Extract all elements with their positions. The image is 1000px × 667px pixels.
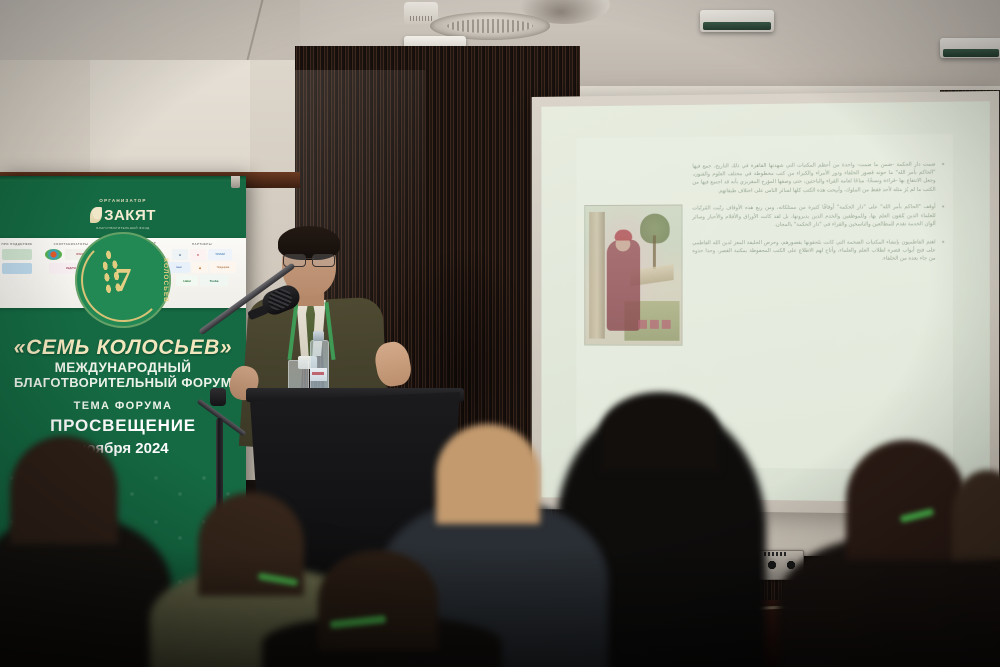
audience-member-head	[318, 550, 438, 650]
forum-emblem: 7 КОЛОСЬЕВ	[75, 232, 171, 328]
banner-organizer-subtitle: БЛАГОТВОРИТЕЛЬНЫЙ ФОНД	[0, 226, 246, 230]
figure-pillar	[589, 212, 605, 339]
sponsor-logo: Halal	[176, 275, 198, 286]
figure-scholar-robe	[607, 239, 640, 330]
figure-tree-trunk	[653, 235, 656, 269]
emblem-word: КОЛОСЬЕВ	[145, 248, 169, 312]
slide-paragraph: اهتم الفاطميون بإنشاء المكتبات الضخمة ال…	[692, 238, 945, 264]
banner-title: «СЕМЬ КОЛОСЬЕВ»	[0, 336, 246, 360]
microphone-joint	[210, 388, 226, 406]
audience-member-head	[436, 424, 540, 524]
sponsor-logo	[2, 263, 32, 274]
wall-column	[90, 60, 250, 190]
sponsor-logo: ★	[190, 249, 206, 260]
audience-member-head	[846, 440, 966, 560]
plate-label-strip	[764, 552, 786, 556]
figure-tile	[638, 320, 647, 329]
ceiling-spotlight-icon	[940, 38, 1000, 58]
bottle-cap	[313, 331, 324, 341]
audience-member-head	[10, 436, 118, 544]
bottle-label	[310, 368, 327, 381]
banner-clip-icon	[231, 176, 240, 188]
ceiling-spotlight-icon	[700, 10, 774, 32]
sponsor-logo: Tooba	[200, 275, 228, 286]
conference-photo-scene: ضمت دار الحكمة -ضمن ما ضمت- واحدة من أعظ…	[0, 0, 1000, 667]
figure-tile	[650, 320, 659, 329]
figure-tile	[662, 320, 671, 329]
sponsor-logo	[2, 249, 32, 260]
sponsor-logo: ◆	[192, 262, 208, 273]
zakat-leaf-icon	[90, 207, 102, 223]
audience-member-head	[600, 392, 720, 472]
sponsor-section-heading: ПРИ ПОДДЕРЖКЕ	[0, 242, 38, 246]
audio-jack-icon	[765, 558, 779, 572]
banner-organizer-label: ОРГАНИЗАТОР	[0, 198, 246, 203]
banner-subtitle-line2: БЛАГОТВОРИТЕЛЬНЫЙ ФОРУМ	[0, 375, 246, 390]
banner-top-edge	[0, 176, 246, 181]
slide-paragraph: ضمت دار الحكمة -ضمن ما ضمت- واحدة من أعظ…	[692, 160, 945, 196]
sponsor-logo: ❀	[172, 249, 188, 260]
figure-scholar-hat	[615, 229, 633, 240]
sponsor-logo: Акыл	[168, 262, 190, 273]
banner-organizer-logo: ЗАКЯТ	[0, 207, 246, 224]
sponsor-logo	[45, 249, 62, 260]
slide-paragraph: أوقف "الحاكم بأمر الله" على "دار الحكمة"…	[692, 203, 945, 230]
slide-figure-image	[584, 204, 682, 345]
banner-subtitle-line1: МЕЖДУНАРОДНЫЙ	[0, 360, 246, 375]
banner-theme: ПРОСВЕЩЕНИЕ	[0, 416, 246, 436]
banner-organizer-name: ЗАКЯТ	[104, 207, 156, 224]
sponsor-section: ПРИ ПОДДЕРЖКЕ	[0, 242, 38, 274]
slide-text-block: ضمت دار الحكمة -ضمن ما ضمت- واحدة من أعظ…	[692, 140, 945, 273]
